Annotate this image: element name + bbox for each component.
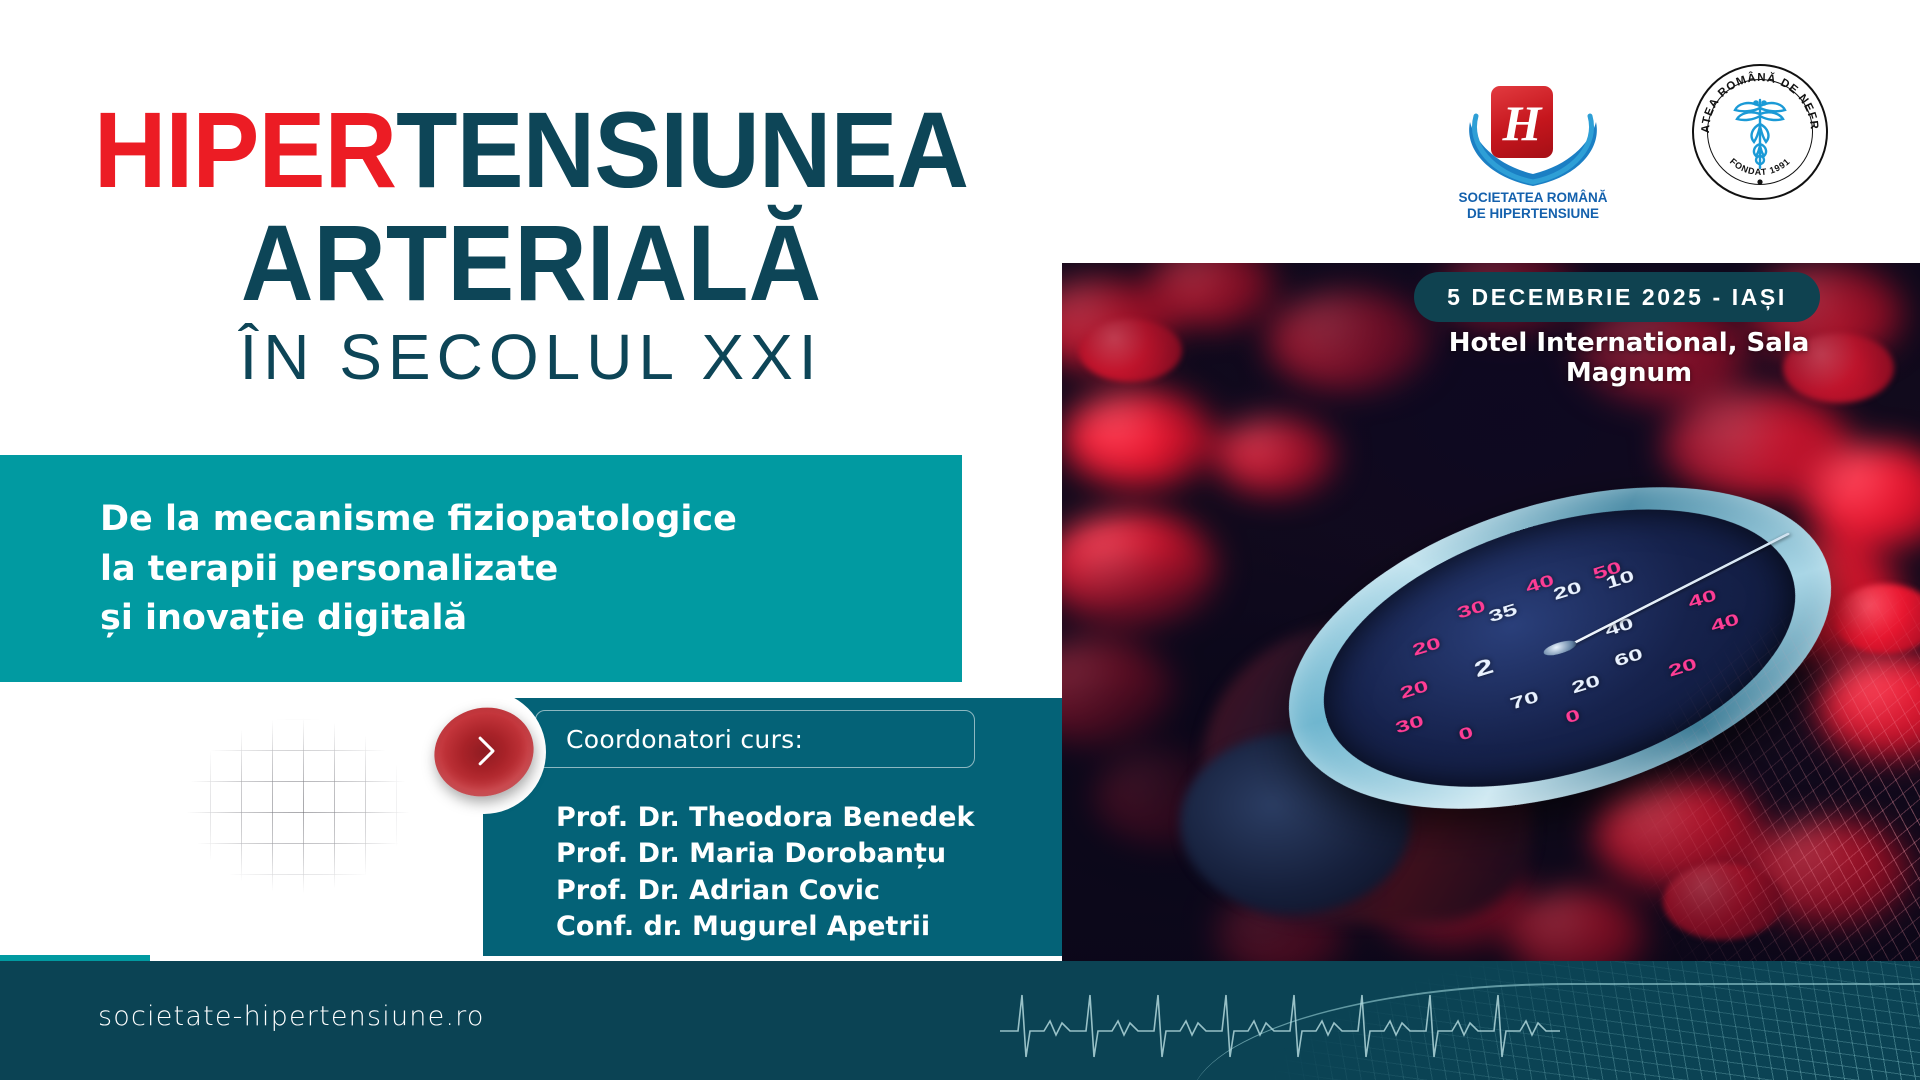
subtitle-band: De la mecanisme fiziopatologice la terap… bbox=[0, 455, 962, 682]
date-badge: 5 DECEMBRIE 2025 - IAȘI bbox=[1414, 272, 1820, 322]
footer-bar: societate-hipertensiune.ro bbox=[0, 961, 1920, 1080]
list-item: Prof. Dr. Theodora Benedek bbox=[556, 800, 974, 836]
subtitle-line-1: De la mecanisme fiziopatologice bbox=[100, 495, 737, 545]
blood-cell-chevron-button[interactable] bbox=[432, 700, 536, 804]
subtitle-line-2: la terapii personalizate bbox=[100, 545, 737, 595]
list-item: Prof. Dr. Maria Dorobanțu bbox=[556, 836, 974, 872]
page-title: HIPERTENSIUNEA ARTERIALĂ ÎN SECOLUL XXI bbox=[0, 96, 1062, 391]
subtitle-line-3: și inovație digitală bbox=[100, 594, 737, 644]
title-line3: ÎN SECOLUL XXI bbox=[0, 324, 1062, 391]
coordinators-heading: Coordonatori curs: bbox=[566, 725, 803, 754]
event-venue: Hotel International, Sala Magnum bbox=[1414, 328, 1844, 388]
logo-monogram: H bbox=[1491, 90, 1553, 156]
title-line2: ARTERIALĂ bbox=[37, 208, 1025, 318]
title-line1-rest: TENSIUNEA bbox=[396, 89, 968, 210]
conference-poster: 20 30 40 50 20 30 40 40 20 0 0 35 20 10 … bbox=[0, 0, 1920, 1080]
grid-pattern-decoration bbox=[148, 688, 448, 923]
list-item: Conf. dr. Mugurel Apetrii bbox=[556, 909, 974, 945]
logo-name-line1: SOCIETATEA ROMÂNĂ bbox=[1438, 190, 1628, 206]
hypertension-society-name: SOCIETATEA ROMÂNĂ DE HIPERTENSIUNE bbox=[1438, 190, 1628, 223]
website-url[interactable]: societate-hipertensiune.ro bbox=[98, 1001, 485, 1032]
hypertension-society-logo: H SOCIETATEA ROMÂNĂ DE HIPERTENSIUNE bbox=[1438, 86, 1628, 226]
coordinators-heading-box: Coordonatori curs: bbox=[535, 710, 975, 768]
chevron-right-icon bbox=[476, 736, 498, 766]
nephrology-society-logo: SOCIETATEA ROMÂNĂ DE NEFROLOGIE FONDAT 1… bbox=[1692, 64, 1828, 200]
list-item: Prof. Dr. Adrian Covic bbox=[556, 873, 974, 909]
event-date-location: 5 DECEMBRIE 2025 - IAȘI bbox=[1447, 284, 1787, 311]
caduceus-icon bbox=[1732, 94, 1788, 172]
coordinators-list: Prof. Dr. Theodora Benedek Prof. Dr. Mar… bbox=[556, 800, 974, 946]
title-highlight: HIPER bbox=[94, 89, 396, 210]
red-mesh-overlay bbox=[1630, 581, 1920, 961]
logo-name-line2: DE HIPERTENSIUNE bbox=[1438, 206, 1628, 222]
